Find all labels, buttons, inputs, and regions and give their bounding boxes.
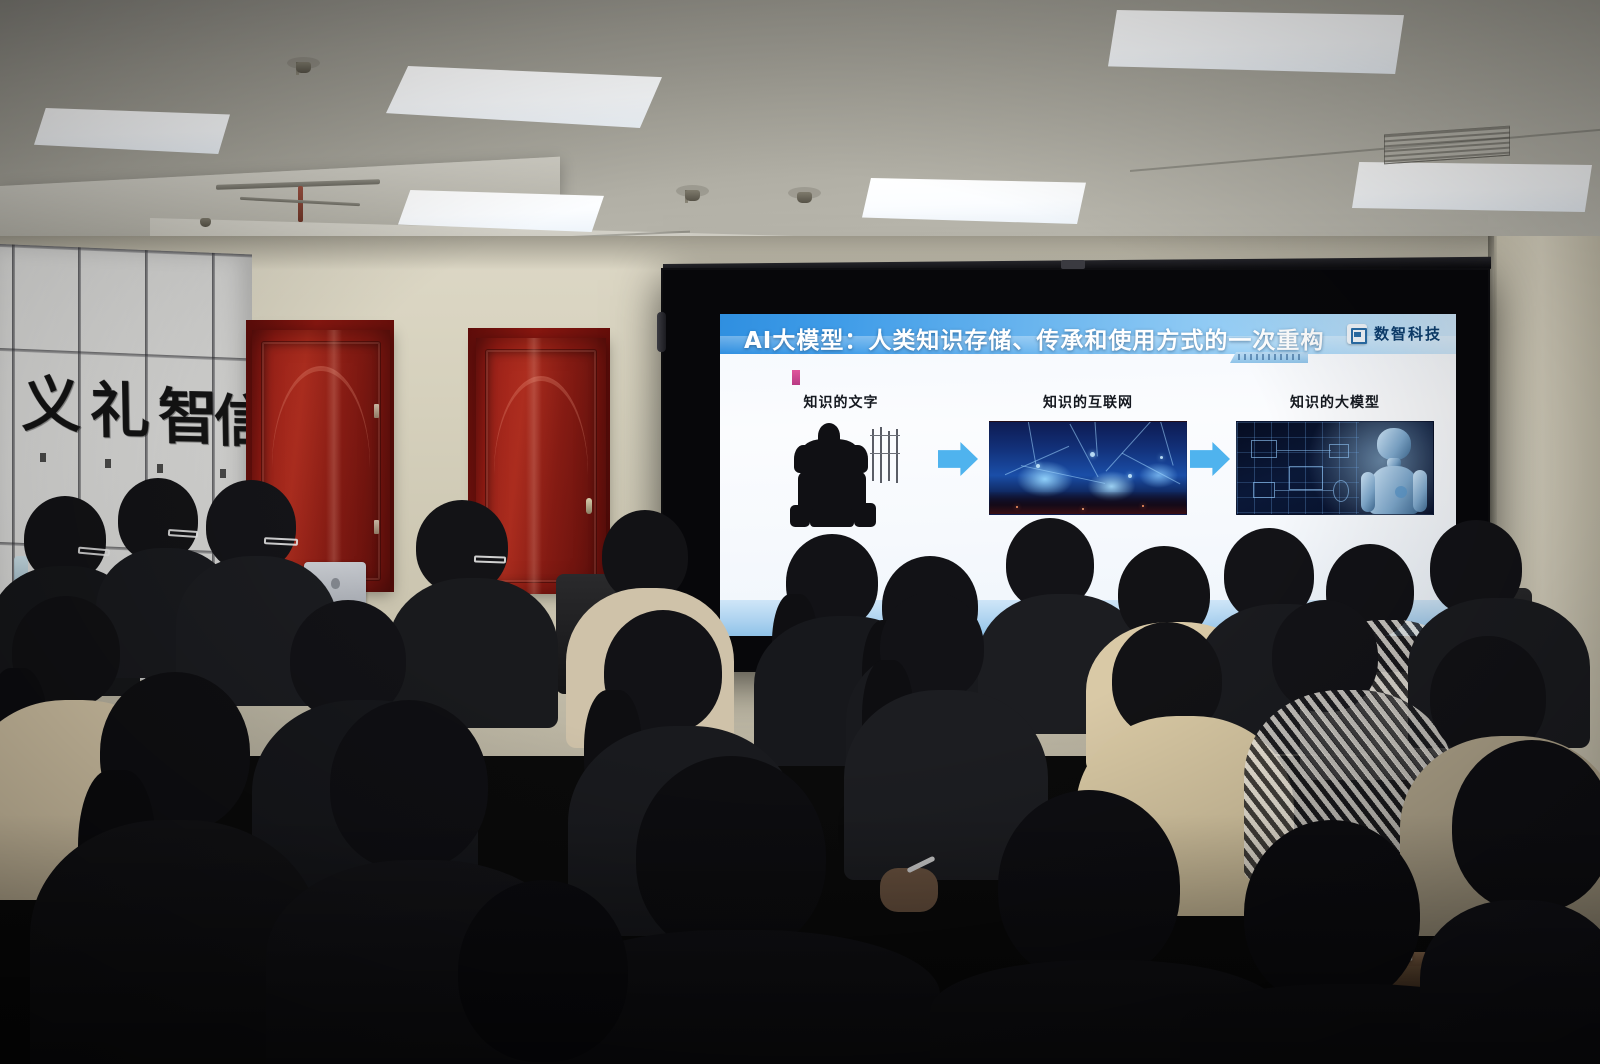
slide-panel-2: 知识的互联网 <box>989 392 1187 515</box>
glasses <box>474 555 506 563</box>
seal-mark <box>105 459 111 468</box>
slide-panel-1: 知识的文字 <box>742 392 940 529</box>
slide-title: AI大模型：人类知识存储、传承和使用方式的一次重构 <box>744 321 1324 355</box>
tv-side-button[interactable] <box>657 312 666 352</box>
slide-logo: 数智科技 <box>1347 323 1442 344</box>
tv-sensor <box>1061 260 1085 269</box>
calligraphy-char-3: 智 <box>157 387 218 448</box>
seal-mark <box>157 464 163 473</box>
slide-accent-marker <box>792 370 800 385</box>
panel-title: 知识的大模型 <box>1236 392 1434 412</box>
slide-logo-text: 数智科技 <box>1374 323 1442 344</box>
ancient-figure-illustration <box>776 421 906 529</box>
ceiling-light-panel <box>1108 10 1404 74</box>
robot-figure <box>1361 426 1427 514</box>
sprinkler-head <box>296 62 299 75</box>
seal-mark <box>40 453 46 462</box>
calligraphy-char-2: 礼 <box>89 381 150 442</box>
lecture-room-scene: 义 礼 智 信 AI大模型：人类知识存储、传承和使用方式的一次重构 <box>0 0 1600 1064</box>
ceiling-light-panel <box>862 178 1086 224</box>
ai-robot-circuit-image <box>1236 421 1434 515</box>
panel-title: 知识的互联网 <box>989 392 1187 412</box>
ceiling-light-panel <box>1352 162 1592 212</box>
square-frame-icon <box>1347 324 1367 344</box>
calligraphy-char-1: 义 <box>20 375 81 436</box>
slide-panel-3: 知识的大模型 <box>1236 392 1434 515</box>
seal-mark <box>220 469 226 478</box>
ceiling-track <box>298 186 303 222</box>
panel-title: 知识的文字 <box>742 392 940 412</box>
sprinkler-head <box>685 190 688 203</box>
blue-network-city-image <box>989 421 1187 515</box>
